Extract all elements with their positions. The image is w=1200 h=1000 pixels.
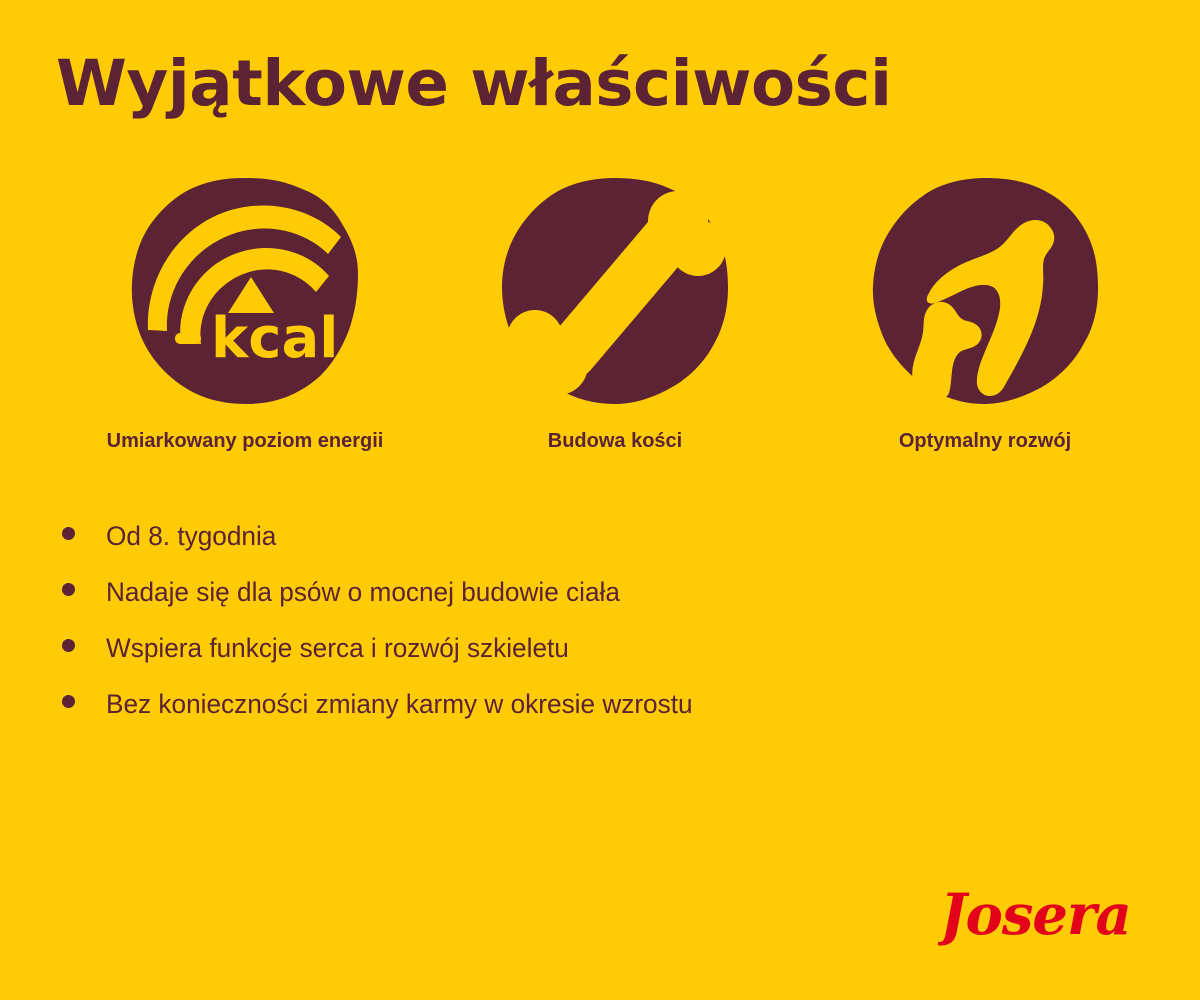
- feature-label-development: Optymalny rozwój: [815, 429, 1155, 453]
- list-item-label: Wspiera funkcje serca i rozwój szkieletu: [106, 632, 569, 664]
- feature-item-development: Optymalny rozwój: [815, 175, 1155, 453]
- energy-gauge-icon: kcal: [129, 175, 361, 407]
- dog-and-puppy-icon: [869, 175, 1101, 407]
- page-title: Wyjątkowe właściwości: [56, 48, 891, 120]
- bullet-dot-icon: [62, 527, 75, 540]
- feature-item-bone: Budowa kości: [445, 175, 785, 453]
- josera-logo: Josera: [938, 882, 1153, 950]
- bullet-dot-icon: [62, 583, 75, 596]
- list-item-label: Od 8. tygodnia: [106, 520, 276, 552]
- infographic-page: Wyjątkowe właściwości: [0, 0, 1200, 1000]
- list-item: Od 8. tygodnia: [62, 520, 1062, 576]
- list-item: Wspiera funkcje serca i rozwój szkieletu: [62, 632, 1062, 688]
- bone-icon: [499, 175, 731, 407]
- feature-item-energy: kcal Umiarkowany poziom energii: [75, 175, 415, 453]
- josera-logo-text: Josera: [938, 882, 1131, 948]
- list-item: Bez konieczności zmiany karmy w okresie …: [62, 688, 1062, 744]
- benefits-list: Od 8. tygodnia Nadaje się dla psów o moc…: [62, 520, 1062, 744]
- bullet-dot-icon: [62, 639, 75, 652]
- list-item: Nadaje się dla psów o mocnej budowie cia…: [62, 576, 1062, 632]
- list-item-label: Bez konieczności zmiany karmy w okresie …: [106, 688, 693, 720]
- feature-label-energy: Umiarkowany poziom energii: [75, 429, 415, 453]
- feature-label-bone: Budowa kości: [445, 429, 785, 453]
- bullet-dot-icon: [62, 695, 75, 708]
- feature-list: kcal Umiarkowany poziom energii: [0, 175, 1200, 475]
- list-item-label: Nadaje się dla psów o mocnej budowie cia…: [106, 576, 620, 608]
